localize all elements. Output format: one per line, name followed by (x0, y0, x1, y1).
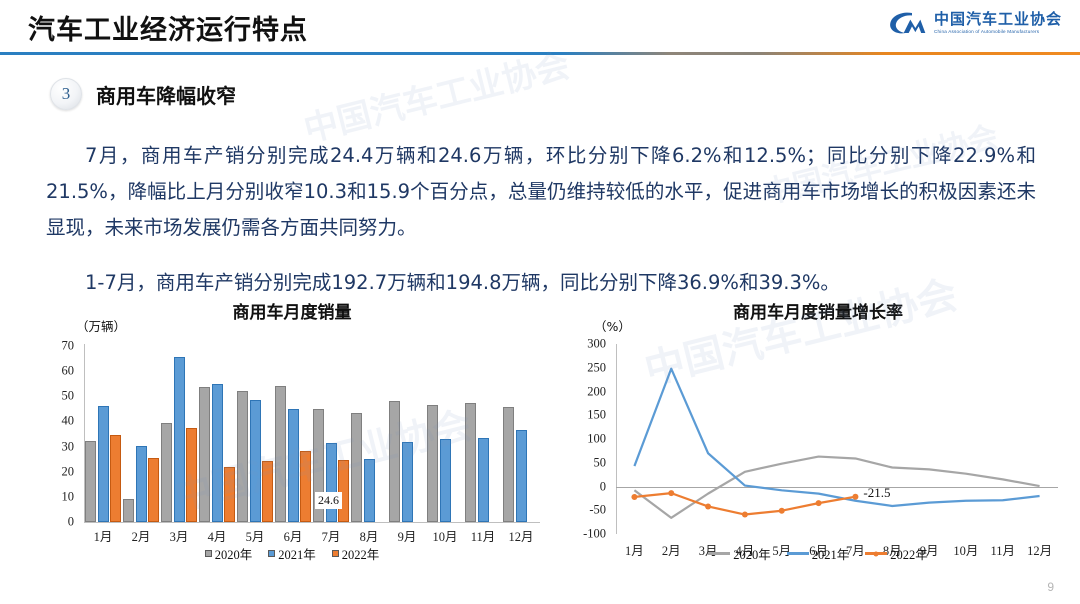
legend-item-2022: 2022年 (332, 544, 380, 563)
bar-2020-6月 (275, 386, 286, 522)
bar-2021-5月 (250, 400, 261, 522)
bar-2021-9月 (402, 442, 413, 522)
bar-group (199, 344, 235, 522)
x-axis-tick-label: 5月 (246, 526, 265, 545)
bar-chart-plot: 0102030405060701月2月3月4月5月6月7月8月9月10月11月1… (36, 332, 548, 532)
body-text: 7月，商用车产销分别完成24.4万辆和24.6万辆，环比分别下降6.2%和12.… (46, 118, 1036, 321)
bar-chart-panel: 商用车月度销量 （万辆） 0102030405060701月2月3月4月5月6月… (36, 292, 548, 592)
bar-group (275, 344, 311, 522)
bar-2022-6月 (300, 451, 311, 522)
section-heading: 3 商用车降幅收窄 (50, 78, 236, 110)
legend-line-icon (787, 552, 809, 555)
bar-2021-4月 (212, 384, 223, 522)
x-axis-tick-label: 12月 (508, 526, 533, 545)
bar-2021-12月 (516, 430, 527, 522)
legend-item-2021: 2021年 (787, 544, 850, 563)
paragraph-1: 7月，商用车产销分别完成24.4万辆和24.6万辆，环比分别下降6.2%和12.… (46, 138, 1036, 246)
line-chart-title: 商用车月度销量增长率 (568, 292, 1068, 323)
page-number: 9 (1047, 580, 1054, 594)
x-axis-tick-label: 10月 (432, 526, 457, 545)
line-chart-legend: 2020年2021年2022年 (568, 544, 1068, 563)
brand-logo: 中国汽车工业协会 China Association of Automobile… (887, 10, 1062, 36)
bar-group (389, 344, 425, 522)
legend-label: 2022年 (342, 544, 380, 563)
bar-2022-1月 (110, 435, 121, 522)
x-axis-tick-label: 11月 (471, 526, 496, 545)
brand-name-en: China Association of Automobile Manufact… (934, 30, 1062, 35)
cam-logo-icon (887, 10, 927, 36)
bar-2020-2月 (123, 499, 134, 522)
bar-2020-1月 (85, 441, 96, 522)
bar-2020-10月 (427, 405, 438, 522)
legend-line-icon (708, 552, 730, 555)
line-marker (631, 494, 637, 500)
y-axis-tick-label: 20 (40, 464, 74, 479)
bar-group (351, 344, 387, 522)
legend-label: 2022年 (890, 544, 928, 563)
bar-group (85, 344, 121, 522)
line-2020 (634, 457, 1039, 518)
line-marker (816, 500, 822, 506)
brand-text: 中国汽车工业协会 China Association of Automobile… (934, 12, 1062, 35)
x-axis-tick-label: 2月 (132, 526, 151, 545)
page-title: 汽车工业经济运行特点 (28, 8, 308, 47)
bar-2020-3月 (161, 423, 172, 522)
y-axis-tick-label: 60 (40, 364, 74, 379)
x-axis-tick-label: 1月 (94, 526, 113, 545)
line-data-label: -21.5 (863, 485, 890, 501)
legend-label: 2021年 (812, 544, 850, 563)
bar-group (161, 344, 197, 522)
legend-item-2022: 2022年 (865, 544, 928, 563)
legend-item-2020: 2020年 (205, 544, 253, 563)
line-chart-panel: 商用车月度销量增长率 （%） -100-50050100150200250300… (568, 292, 1068, 592)
bar-2021-3月 (174, 357, 185, 522)
x-axis-tick-label: 9月 (398, 526, 417, 545)
line-marker (742, 512, 748, 518)
bar-group (237, 344, 273, 522)
y-axis-tick-label: 30 (40, 439, 74, 454)
bar-2020-11月 (465, 403, 476, 522)
bar-2021-10月 (440, 439, 451, 522)
legend-swatch-icon (205, 550, 212, 557)
line-marker (668, 490, 674, 496)
y-axis-tick-label: 40 (40, 414, 74, 429)
bar-data-label: 24.6 (315, 492, 342, 509)
section-title: 商用车降幅收窄 (96, 80, 236, 109)
line-marker (779, 508, 785, 514)
charts-area: 商用车月度销量 （万辆） 0102030405060701月2月3月4月5月6月… (0, 292, 1080, 592)
x-axis-tick-label: 7月 (322, 526, 341, 545)
bar-2021-6月 (288, 409, 299, 522)
bar-2020-8月 (351, 413, 362, 522)
bar-2021-7月 (326, 443, 337, 522)
y-axis-tick-label: 10 (40, 489, 74, 504)
legend-marker-icon (874, 551, 879, 556)
legend-swatch-icon (332, 550, 339, 557)
bar-group (465, 344, 501, 522)
bar-2020-9月 (389, 401, 400, 522)
bar-group (427, 344, 463, 522)
line-chart-plot: -100-500501001502002503001月2月3月4月5月6月7月8… (568, 332, 1068, 532)
line-marker (852, 494, 858, 500)
x-axis-tick-label: 4月 (208, 526, 227, 545)
x-axis-tick-label: 8月 (360, 526, 379, 545)
legend-swatch-icon (268, 550, 275, 557)
bar-2021-2月 (136, 446, 147, 522)
x-axis-line (84, 522, 540, 523)
bar-2022-4月 (224, 467, 235, 522)
legend-label: 2021年 (278, 544, 316, 563)
legend-label: 2020年 (733, 544, 771, 563)
x-axis-tick-label: 6月 (284, 526, 303, 545)
x-axis-tick-label: 3月 (170, 526, 189, 545)
bar-2020-5月 (237, 391, 248, 522)
y-axis-tick-label: 0 (40, 515, 74, 530)
page-header: 汽车工业经济运行特点 中国汽车工业协会 China Association of… (0, 0, 1080, 56)
bar-2022-2月 (148, 458, 159, 522)
bar-2020-12月 (503, 407, 514, 522)
bar-chart-legend: 2020年2021年2022年 (36, 544, 548, 563)
bar-2022-5月 (262, 461, 273, 522)
bar-2022-3月 (186, 428, 197, 522)
bar-2021-11月 (478, 438, 489, 522)
legend-item-2021: 2021年 (268, 544, 316, 563)
line-2021 (634, 369, 1039, 506)
line-series-group (568, 332, 1068, 552)
y-axis-tick-label: 70 (40, 339, 74, 354)
brand-name-cn: 中国汽车工业协会 (934, 12, 1062, 27)
bar-group (123, 344, 159, 522)
line-2022 (634, 493, 855, 514)
header-divider (0, 52, 1080, 55)
bar-2021-8月 (364, 459, 375, 522)
legend-item-2020: 2020年 (708, 544, 771, 563)
bar-2021-1月 (98, 406, 109, 522)
legend-line-icon (865, 552, 887, 555)
section-number-badge: 3 (50, 78, 82, 110)
line-marker (705, 503, 711, 509)
bar-group (503, 344, 539, 522)
legend-label: 2020年 (215, 544, 253, 563)
y-axis-tick-label: 50 (40, 389, 74, 404)
bar-2020-4月 (199, 387, 210, 522)
